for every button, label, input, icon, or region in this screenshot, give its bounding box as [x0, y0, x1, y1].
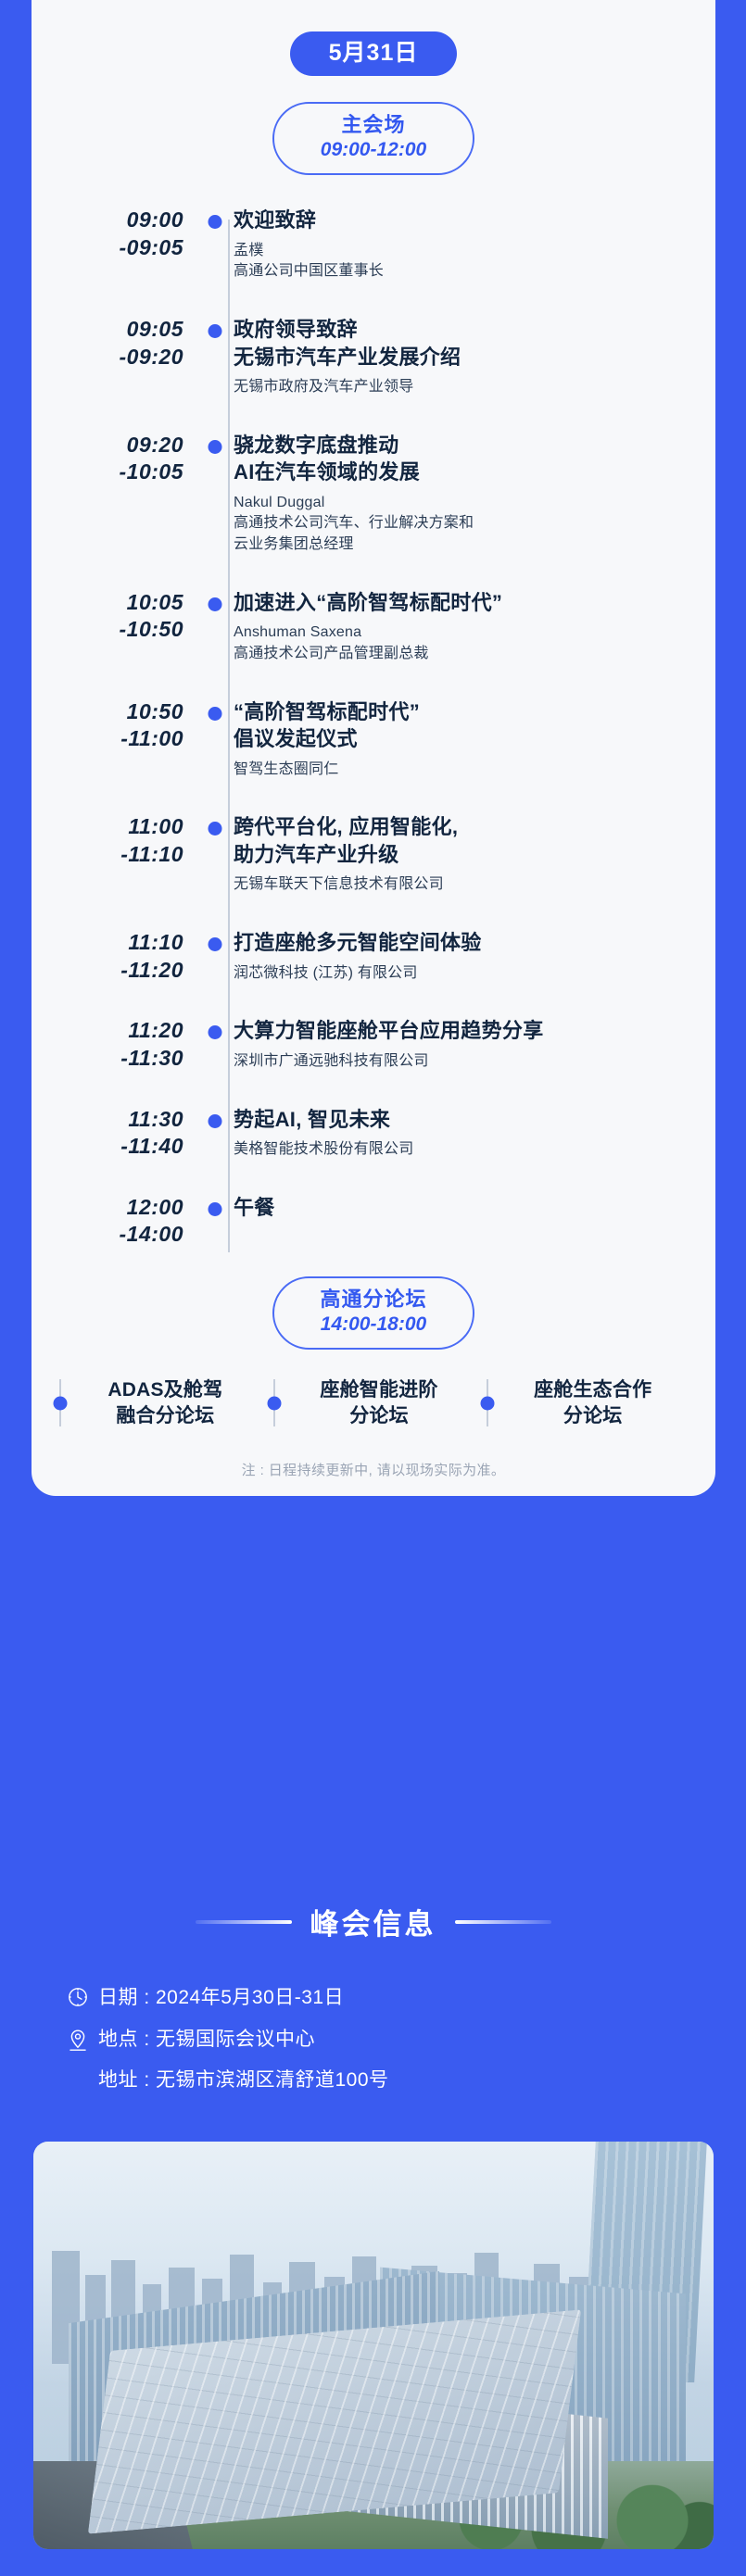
title-line: 无锡市汽车产业发展介绍 — [234, 344, 704, 371]
title-line: 大算力智能座舱平台应用趋势分享 — [234, 1017, 704, 1044]
subtitle-line: 无锡市政府及汽车产业领导 — [234, 377, 704, 398]
time-start: 11:20 — [128, 1018, 183, 1042]
agenda-item-content: 午餐 — [230, 1194, 715, 1249]
timeline-dot-icon — [209, 1202, 222, 1216]
timeline-dot-icon — [209, 937, 222, 951]
agenda-item-time: 10:05 -10:50 — [32, 589, 200, 665]
agenda-item: 12:00 -14:00 午餐 — [32, 1194, 715, 1249]
timeline-dot-icon — [209, 324, 222, 338]
title-line: 午餐 — [234, 1194, 704, 1221]
agenda-item-title: 骁龙数字底盘推动 AI在汽车领域的发展 — [234, 432, 704, 486]
agenda-item: 09:05 -09:20 政府领导致辞 无锡市汽车产业发展介绍 无锡市政府及汽车… — [32, 316, 715, 398]
time-start: 12:00 — [127, 1195, 183, 1219]
agenda-item: 11:00 -11:10 跨代平台化, 应用智能化, 助力汽车产业升级 无锡车联… — [32, 813, 715, 896]
agenda-item-time: 11:10 -11:20 — [32, 929, 200, 984]
time-start: 10:05 — [127, 590, 183, 614]
time-end: -10:50 — [32, 616, 183, 643]
timeline-dot-icon — [209, 440, 222, 454]
timeline-dot-column — [200, 207, 230, 283]
forum-label-line: 融合分论坛 — [70, 1403, 260, 1428]
agenda-item-content: 骁龙数字底盘推动 AI在汽车领域的发展 Nakul Duggal 高通技术公司汽… — [230, 432, 715, 556]
timeline-dot-column — [200, 698, 230, 781]
forum-label-line: 分论坛 — [284, 1403, 474, 1428]
time-end: -11:40 — [32, 1133, 183, 1160]
subtitle-line: Nakul Duggal — [234, 493, 704, 514]
agenda-item-title: 跨代平台化, 应用智能化, 助力汽车产业升级 — [234, 813, 704, 868]
title-line: 倡议发起仪式 — [234, 725, 704, 752]
time-end: -11:30 — [32, 1045, 183, 1072]
agenda-item-content: “高阶智驾标配时代” 倡议发起仪式 智驾生态圈同仁 — [230, 698, 715, 781]
main-session-container: 主会场 09:00-12:00 — [32, 76, 715, 176]
timeline-dot-column — [200, 589, 230, 665]
timeline-dot-icon — [209, 215, 222, 229]
time-end: -14:00 — [32, 1221, 183, 1248]
subtitle-line: 云业务集团总经理 — [234, 534, 704, 556]
subtitle-line: 美格智能技术股份有限公司 — [234, 1139, 704, 1161]
agenda-item-subtitle: 无锡市政府及汽车产业领导 — [234, 377, 704, 398]
agenda-item: 11:30 -11:40 势起AI, 智见未来 美格智能技术股份有限公司 — [32, 1106, 715, 1161]
time-start: 09:20 — [127, 433, 183, 457]
title-line: 跨代平台化, 应用智能化, — [234, 813, 704, 840]
agenda-item-subtitle: 无锡车联天下信息技术有限公司 — [234, 874, 704, 896]
time-end: -10:05 — [32, 459, 183, 485]
title-line: 骁龙数字底盘推动 — [234, 432, 704, 459]
agenda-item-content: 加速进入“高阶智驾标配时代” Anshuman Saxena 高通技术公司产品管… — [230, 589, 715, 665]
agenda-item-subtitle: 深圳市广通远驰科技有限公司 — [234, 1051, 704, 1073]
timeline-dot-icon — [209, 597, 222, 611]
summit-info-row-date: 日期 : 2024年5月30日-31日 — [67, 1983, 746, 2013]
agenda-item-title: 大算力智能座舱平台应用趋势分享 — [234, 1017, 704, 1044]
agenda-item-subtitle: 孟樸 高通公司中国区董事长 — [234, 241, 704, 283]
agenda-item: 10:50 -11:00 “高阶智驾标配时代” 倡议发起仪式 智驾生态圈同仁 — [32, 698, 715, 781]
agenda-item-time: 11:30 -11:40 — [32, 1106, 200, 1161]
agenda-item-subtitle: Anshuman Saxena 高通技术公司产品管理副总裁 — [234, 622, 704, 664]
sub-session-name: 高通分论坛 — [311, 1287, 436, 1313]
agenda-item: 09:00 -09:05 欢迎致辞 孟樸 高通公司中国区董事长 — [32, 207, 715, 283]
title-line: 助力汽车产业升级 — [234, 841, 704, 868]
time-start: 11:30 — [128, 1107, 183, 1131]
summit-info-section: 峰会信息 日期 : 2024年5月30日-31日 — [0, 1877, 746, 2107]
time-end: -11:20 — [32, 957, 183, 984]
agenda-item-title: 势起AI, 智见未来 — [234, 1106, 704, 1133]
agenda-item: 09:20 -10:05 骁龙数字底盘推动 AI在汽车领域的发展 Nakul D… — [32, 432, 715, 556]
agenda-item: 10:05 -10:50 加速进入“高阶智驾标配时代” Anshuman Sax… — [32, 589, 715, 665]
timeline-dot-column — [200, 1017, 230, 1072]
agenda-item-time: 11:00 -11:10 — [32, 813, 200, 896]
date-badge-container: 5月31日 — [32, 0, 715, 76]
forum-label-line: ADAS及舱驾 — [70, 1377, 260, 1402]
agenda-item-time: 12:00 -14:00 — [32, 1194, 200, 1249]
agenda-item-subtitle: 润芯微科技 (江苏) 有限公司 — [234, 963, 704, 985]
time-end: -09:20 — [32, 344, 183, 371]
subtitle-line: 智驾生态圈同仁 — [234, 760, 704, 781]
agenda-timeline: 09:00 -09:05 欢迎致辞 孟樸 高通公司中国区董事长 — [32, 207, 715, 1251]
agenda-item: 11:20 -11:30 大算力智能座舱平台应用趋势分享 深圳市广通远驰科技有限… — [32, 1017, 715, 1072]
title-line: 欢迎致辞 — [234, 207, 704, 233]
sub-session-pill: 高通分论坛 14:00-18:00 — [272, 1276, 474, 1351]
agenda-item-content: 政府领导致辞 无锡市汽车产业发展介绍 无锡市政府及汽车产业领导 — [230, 316, 715, 398]
forum-list: ADAS及舱驾 融合分论坛 座舱智能进阶 分论坛 座舱生态合作 分论坛 — [52, 1377, 688, 1428]
location-pin-icon — [67, 2025, 98, 2052]
time-start: 11:00 — [128, 814, 183, 838]
summit-info-address: 地址 : 无锡市滨湖区清舒道100号 — [98, 2066, 389, 2095]
title-line: 势起AI, 智见未来 — [234, 1106, 704, 1133]
venue-photo — [33, 2142, 714, 2549]
subtitle-line: 润芯微科技 (江苏) 有限公司 — [234, 963, 704, 985]
agenda-item-time: 09:00 -09:05 — [32, 207, 200, 283]
summit-title-row: 峰会信息 — [0, 1901, 746, 1942]
title-line: “高阶智驾标配时代” — [234, 698, 704, 725]
summit-info-row-address: 地址 : 无锡市滨湖区清舒道100号 — [67, 2066, 746, 2095]
agenda-item-subtitle: 美格智能技术股份有限公司 — [234, 1139, 704, 1161]
subtitle-line: 高通公司中国区董事长 — [234, 261, 704, 283]
title-line: 打造座舱多元智能空间体验 — [234, 929, 704, 956]
agenda-item-subtitle: 智驾生态圈同仁 — [234, 760, 704, 781]
summit-info-list: 日期 : 2024年5月30日-31日 地点 : 无锡国际会议中心 地址 : 无… — [67, 1983, 746, 2095]
agenda-card: 5月31日 主会场 09:00-12:00 09:00 -09:05 — [32, 0, 715, 1496]
clock-icon — [67, 1983, 98, 2008]
sub-session-container: 高通分论坛 14:00-18:00 — [32, 1276, 715, 1351]
agenda-item-title: 加速进入“高阶智驾标配时代” — [234, 589, 704, 616]
time-end: -11:00 — [32, 725, 183, 752]
summit-title: 峰会信息 — [310, 1901, 436, 1942]
agenda-item-content: 跨代平台化, 应用智能化, 助力汽车产业升级 无锡车联天下信息技术有限公司 — [230, 813, 715, 896]
timeline-dot-column — [200, 1194, 230, 1249]
agenda-item-title: 午餐 — [234, 1194, 704, 1221]
time-end: -11:10 — [32, 841, 183, 868]
agenda-item-subtitle: Nakul Duggal 高通技术公司汽车、行业解决方案和 云业务集团总经理 — [234, 493, 704, 556]
subtitle-line: 高通技术公司产品管理副总裁 — [234, 644, 704, 665]
time-start: 11:10 — [128, 930, 183, 954]
sub-session-time: 14:00-18:00 — [311, 1313, 436, 1337]
title-line: 加速进入“高阶智驾标配时代” — [234, 589, 704, 616]
agenda-item-content: 大算力智能座舱平台应用趋势分享 深圳市广通远驰科技有限公司 — [230, 1017, 715, 1072]
time-start: 09:05 — [127, 317, 183, 341]
forum-dot-icon — [267, 1396, 281, 1410]
subtitle-line: Anshuman Saxena — [234, 622, 704, 644]
forum-item: ADAS及舱驾 融合分论坛 — [52, 1377, 260, 1428]
subtitle-line: 无锡车联天下信息技术有限公司 — [234, 874, 704, 896]
forum-label-line: 座舱生态合作 — [498, 1377, 688, 1402]
agenda-item-title: “高阶智驾标配时代” 倡议发起仪式 — [234, 698, 704, 753]
forum-label-line: 分论坛 — [498, 1403, 688, 1428]
agenda-item-content: 欢迎致辞 孟樸 高通公司中国区董事长 — [230, 207, 715, 283]
forum-label-line: 座舱智能进阶 — [284, 1377, 474, 1402]
agenda-item-time: 10:50 -11:00 — [32, 698, 200, 781]
agenda-item-title: 政府领导致辞 无锡市汽车产业发展介绍 — [234, 316, 704, 371]
subtitle-line: 深圳市广通远驰科技有限公司 — [234, 1051, 704, 1073]
subtitle-line: 孟樸 — [234, 241, 704, 262]
date-badge: 5月31日 — [290, 31, 458, 76]
time-start: 10:50 — [127, 699, 183, 723]
time-start: 09:00 — [127, 207, 183, 232]
agenda-item-time: 09:05 -09:20 — [32, 316, 200, 398]
time-end: -09:05 — [32, 234, 183, 261]
agenda-item-content: 势起AI, 智见未来 美格智能技术股份有限公司 — [230, 1106, 715, 1161]
main-session-pill: 主会场 09:00-12:00 — [272, 102, 474, 176]
title-line: 政府领导致辞 — [234, 316, 704, 343]
forum-label: 座舱智能进阶 分论坛 — [284, 1377, 474, 1428]
agenda-note: 注 : 日程持续更新中, 请以现场实际为准。 — [32, 1460, 715, 1479]
forum-item: 座舱生态合作 分论坛 — [479, 1377, 688, 1428]
timeline-dot-column — [200, 432, 230, 556]
divider-line-right — [455, 1920, 551, 1924]
main-session-name: 主会场 — [311, 112, 436, 138]
summit-info-date: 日期 : 2024年5月30日-31日 — [98, 1983, 344, 2013]
agenda-item-time: 11:20 -11:30 — [32, 1017, 200, 1072]
timeline-dot-icon — [209, 707, 222, 721]
forum-label: ADAS及舱驾 融合分论坛 — [70, 1377, 260, 1428]
poster-page: 5月31日 主会场 09:00-12:00 09:00 -09:05 — [0, 0, 746, 2576]
summit-info-venue: 地点 : 无锡国际会议中心 — [98, 2025, 315, 2055]
timeline-dot-column — [200, 1106, 230, 1161]
forum-dot-icon — [481, 1396, 495, 1410]
timeline-dot-column — [200, 929, 230, 984]
timeline-dot-icon — [209, 1114, 222, 1128]
divider-line-left — [196, 1920, 292, 1924]
forum-label: 座舱生态合作 分论坛 — [498, 1377, 688, 1428]
timeline-dot-column — [200, 813, 230, 896]
title-line: AI在汽车领域的发展 — [234, 459, 704, 485]
main-session-time: 09:00-12:00 — [311, 138, 436, 162]
agenda-item: 11:10 -11:20 打造座舱多元智能空间体验 润芯微科技 (江苏) 有限公… — [32, 929, 715, 984]
agenda-item-time: 09:20 -10:05 — [32, 432, 200, 556]
forum-dot-icon — [54, 1396, 68, 1410]
summit-info-row-venue: 地点 : 无锡国际会议中心 — [67, 2025, 746, 2055]
timeline-dot-icon — [209, 822, 222, 836]
agenda-item-content: 打造座舱多元智能空间体验 润芯微科技 (江苏) 有限公司 — [230, 929, 715, 984]
agenda-item-title: 打造座舱多元智能空间体验 — [234, 929, 704, 956]
subtitle-line: 高通技术公司汽车、行业解决方案和 — [234, 513, 704, 534]
timeline-dot-column — [200, 316, 230, 398]
agenda-item-title: 欢迎致辞 — [234, 207, 704, 233]
timeline-dot-icon — [209, 1025, 222, 1039]
forum-item: 座舱智能进阶 分论坛 — [266, 1377, 474, 1428]
